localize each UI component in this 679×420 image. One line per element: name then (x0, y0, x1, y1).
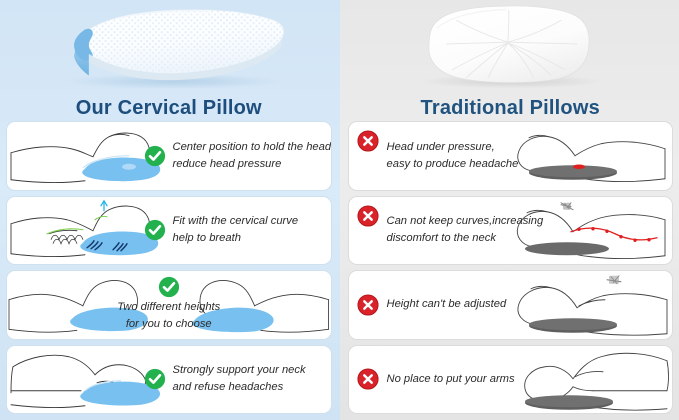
left-panel-title: Our Cervical Pillow (6, 97, 332, 119)
drawback-row-1-line-2: easy to produce headache (387, 156, 565, 173)
drawback-row-4-text: No place to put your arms (387, 371, 565, 388)
drawback-row-3-line-1: Height can't be adjusted (387, 296, 565, 313)
feature-row-4[interactable]: Strongly support your neck and refuse he… (6, 345, 332, 415)
x-circle-icon (357, 130, 379, 152)
left-hero: Our Cervical Pillow (6, 0, 332, 121)
drawback-row-2-text: Can not keep curves,increasing discomfor… (387, 213, 565, 247)
drawback-row-1-text: Head under pressure, easy to produce hea… (387, 139, 565, 173)
drawback-row-1[interactable]: Head under pressure, easy to produce hea… (348, 121, 674, 191)
drawback-row-4-line-1: No place to put your arms (387, 371, 565, 388)
right-rows: Head under pressure, easy to produce hea… (348, 121, 674, 414)
right-panel-title: Traditional Pillows (348, 97, 674, 119)
contour-memory-foam-pillow-image (6, 0, 332, 88)
check-circle-icon (144, 368, 166, 390)
feature-row-3[interactable]: Two different heights for you to choose (6, 270, 332, 340)
panel-our-cervical-pillow: Our Cervical Pillow (0, 0, 340, 420)
feature-row-1-text: Center position to hold the head reduce … (173, 139, 325, 173)
check-circle-icon (144, 219, 166, 241)
drawback-row-1-line-1: Head under pressure, (387, 139, 565, 156)
check-circle-icon (158, 276, 180, 298)
panel-traditional-pillows: Traditional Pillows (340, 0, 679, 420)
right-hero: Traditional Pillows (348, 0, 674, 121)
feature-row-4-line-1: Strongly support your neck (173, 362, 325, 379)
x-circle-icon (357, 294, 379, 316)
comparison-board: Our Cervical Pillow (0, 0, 679, 420)
drawback-row-3-text: Height can't be adjusted (387, 296, 565, 313)
feature-row-4-text: Strongly support your neck and refuse he… (173, 362, 325, 396)
drawback-row-4[interactable]: No place to put your arms (348, 345, 674, 415)
feature-row-3-line-1: Two different heights (117, 299, 220, 316)
drawback-row-2-line-2: discomfort to the neck (387, 230, 565, 247)
left-rows: Center position to hold the head reduce … (6, 121, 332, 414)
feature-row-3-line-2: for you to choose (117, 316, 220, 333)
feature-row-2-line-2: help to breath (173, 230, 325, 247)
drawback-row-2[interactable]: Can not keep curves,increasing discomfor… (348, 196, 674, 266)
feature-row-3-text: Two different heights for you to choose (117, 299, 220, 333)
feature-row-2-line-1: Fit with the cervical curve (173, 213, 325, 230)
x-circle-icon (357, 368, 379, 390)
feature-row-2[interactable]: Fit with the cervical curve help to brea… (6, 196, 332, 266)
drawback-row-2-line-1: Can not keep curves,increasing (387, 213, 565, 230)
traditional-white-pillow-image (348, 0, 674, 88)
check-circle-icon (144, 145, 166, 167)
feature-row-2-text: Fit with the cervical curve help to brea… (173, 213, 325, 247)
feature-row-1-line-2: reduce head pressure (173, 156, 325, 173)
feature-row-1-line-1: Center position to hold the head (173, 139, 325, 156)
drawback-row-3[interactable]: Height can't be adjusted (348, 270, 674, 340)
x-circle-icon (357, 205, 379, 227)
feature-row-4-line-2: and refuse headaches (173, 379, 325, 396)
feature-row-1[interactable]: Center position to hold the head reduce … (6, 121, 332, 191)
